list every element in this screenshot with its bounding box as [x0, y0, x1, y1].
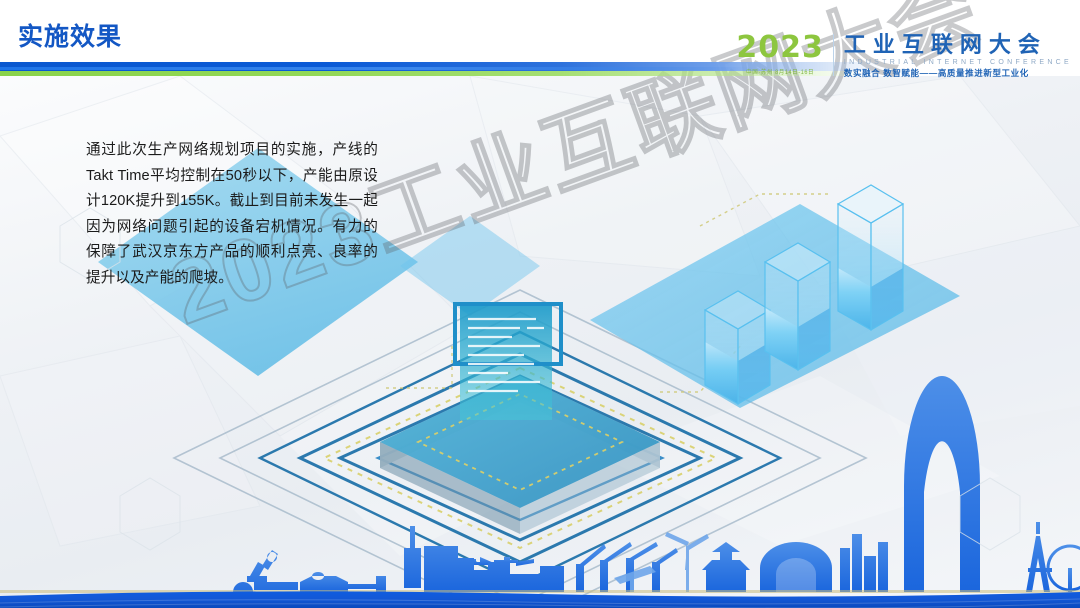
conference-logo: 2023 中国·苏州 8月14日-16日 工业互联网大会 INDUSTRIAL …: [736, 33, 1072, 81]
logo-name-cn: 工业互联网大会: [844, 33, 1072, 57]
logo-date: 中国·苏州 8月14日-16日: [746, 68, 814, 77]
body-paragraph: 通过此次生产网络规划项目的实施，产线的Takt Time平均控制在50秒以下，产…: [86, 138, 378, 291]
slide-root: 2023工业互联网大会 通过此次生产网络规划项目的实施，产线的Takt Time…: [0, 0, 1080, 608]
slide-header: 实施效果 2023 中国·苏州 8月14日-16日 工业互联网大会 INDUST…: [0, 0, 1080, 88]
divider-blue-highlight: [0, 67, 756, 70]
logo-year-block: 2023 中国·苏州 8月14日-16日: [736, 33, 833, 76]
bar-1: [705, 291, 770, 404]
bar-3: [838, 185, 903, 330]
data-document: [455, 302, 561, 420]
bar-2: [765, 243, 830, 370]
page-title: 实施效果: [18, 20, 122, 54]
logo-name-block: 工业互联网大会 INDUSTRIAL INTERNET CONFERENCE 数…: [834, 33, 1072, 79]
logo-slogan: 数实融合 数智赋能——高质量推进新型工业化: [844, 68, 1072, 79]
logo-name-en: INDUSTRIAL INTERNET CONFERENCE: [844, 58, 1072, 68]
logo-year: 2023: [736, 33, 824, 63]
